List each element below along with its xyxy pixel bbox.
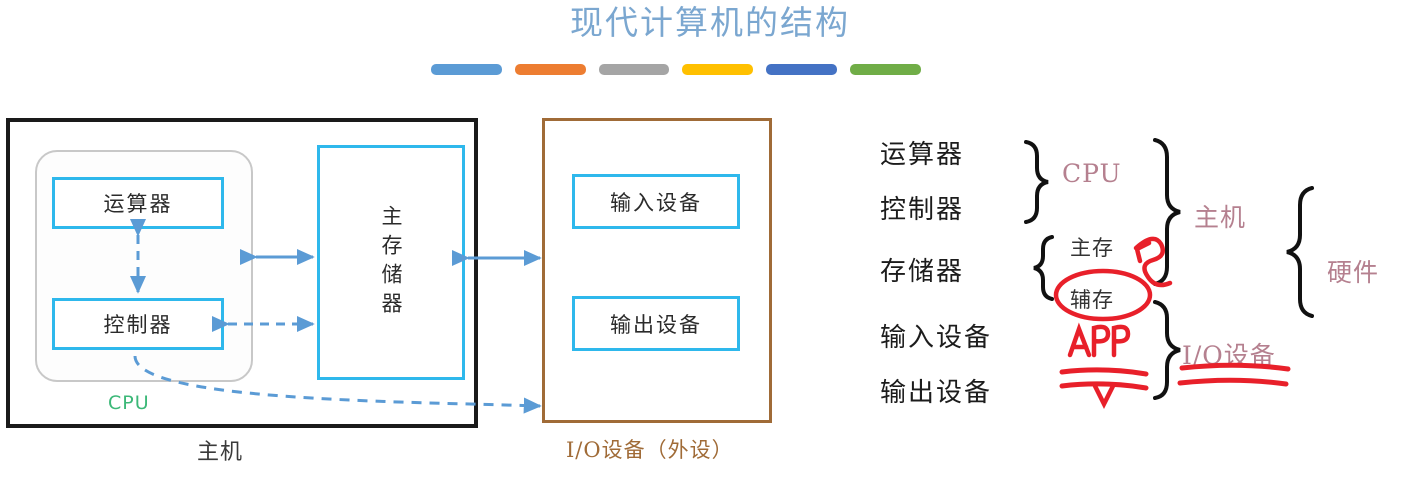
io-boundary-box <box>542 118 772 423</box>
alu-block: 运算器 <box>52 177 224 229</box>
annotation-underline-2 <box>1062 384 1146 388</box>
brace-io <box>1155 302 1180 398</box>
annotation-hook-arrowhead <box>1137 243 1149 261</box>
io-caption: I/O设备（外设） <box>566 434 734 464</box>
brace-hardware <box>1287 188 1312 316</box>
annotation-hook-arrow <box>1136 239 1170 285</box>
accent-bar-green <box>850 64 921 75</box>
group-label-cpu: CPU <box>1062 159 1122 188</box>
accent-bar-blue <box>431 64 502 75</box>
hierarchy-item-input: 输入设备 <box>880 317 992 354</box>
accent-bar-navy <box>766 64 837 75</box>
group-label-hardware: 硬件 <box>1327 253 1379 289</box>
accent-bar-row <box>431 64 921 75</box>
annotation-io-underline-2 <box>1180 380 1286 384</box>
accent-bar-orange <box>515 64 586 75</box>
group-label-io: I/O设备 <box>1182 336 1276 372</box>
accent-bar-gray <box>599 64 670 75</box>
annotation-underline-1 <box>1062 370 1146 374</box>
brace-host <box>1155 140 1180 284</box>
output-device-label: 输出设备 <box>610 309 702 339</box>
storage-sub-aux: 辅存 <box>1070 284 1114 314</box>
alu-label: 运算器 <box>104 188 173 218</box>
cpu-caption: CPU <box>108 392 150 414</box>
annotation-app-text <box>1070 327 1128 355</box>
storage-sub-main: 主存 <box>1070 232 1114 262</box>
slide-canvas: 现代计算机的结构 运算器 控制器 主存储器 输入设备 输出设备 CPU 主机 I… <box>0 0 1420 485</box>
output-device-block: 输出设备 <box>572 296 740 351</box>
brace-cpu <box>1026 142 1048 222</box>
input-device-label: 输入设备 <box>610 187 702 217</box>
main-memory-label: 主存储器 <box>376 205 406 321</box>
control-unit-block: 控制器 <box>52 298 224 350</box>
hierarchy-item-cu: 控制器 <box>880 189 964 226</box>
annotation-down-arrow <box>1095 386 1113 404</box>
input-device-block: 输入设备 <box>572 174 740 229</box>
hierarchy-item-storage: 存储器 <box>880 251 964 288</box>
page-title: 现代计算机的结构 <box>0 0 1420 46</box>
hierarchy-item-output: 输出设备 <box>880 372 992 409</box>
control-unit-label: 控制器 <box>104 309 173 339</box>
group-label-host: 主机 <box>1194 198 1246 234</box>
accent-bar-yellow <box>682 64 753 75</box>
hierarchy-item-alu: 运算器 <box>880 134 964 171</box>
main-memory-block: 主存储器 <box>317 145 465 380</box>
host-caption: 主机 <box>197 434 243 466</box>
brace-storage <box>1034 237 1052 299</box>
